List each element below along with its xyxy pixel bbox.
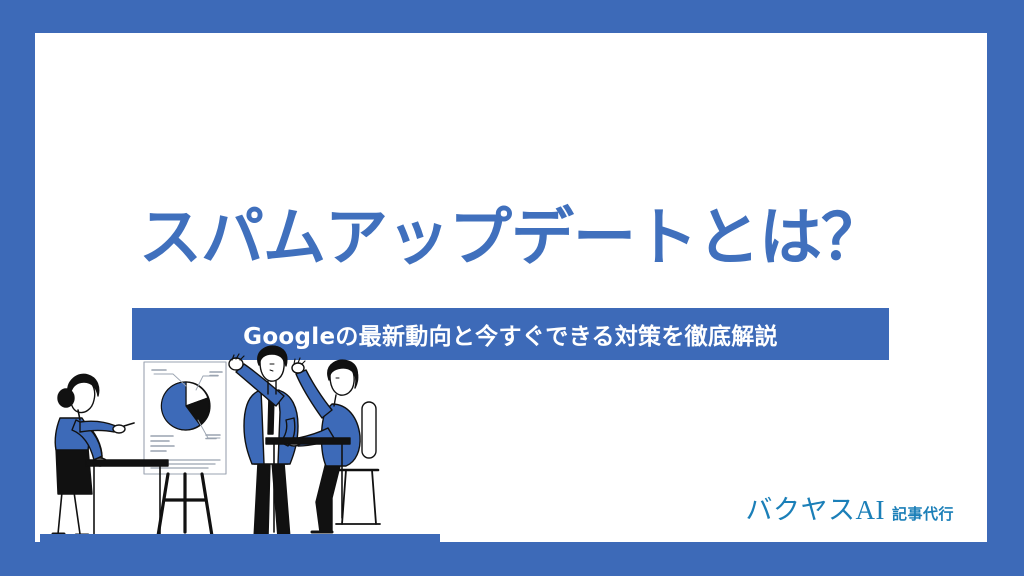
pie-chart	[161, 382, 210, 430]
slide-canvas: スパムアップデートとは？ Googleの最新動向と今すぐできる対策を徹底解説 バ…	[35, 33, 987, 542]
flip-chart-easel	[144, 362, 226, 536]
brand-logo: バクヤスAI 記事代行	[745, 488, 954, 527]
floor-strip	[40, 534, 440, 542]
page-title: スパムアップデートとは？	[120, 205, 902, 272]
brand-logo-name: バクヤスAI	[745, 488, 885, 527]
brand-logo-tagline: 記事代行	[892, 503, 954, 524]
slide-frame: スパムアップデートとは？ Googleの最新動向と今すぐできる対策を徹底解説 バ…	[0, 0, 1024, 576]
person-seated-figure	[287, 358, 380, 532]
business-team-illustration	[40, 342, 440, 542]
